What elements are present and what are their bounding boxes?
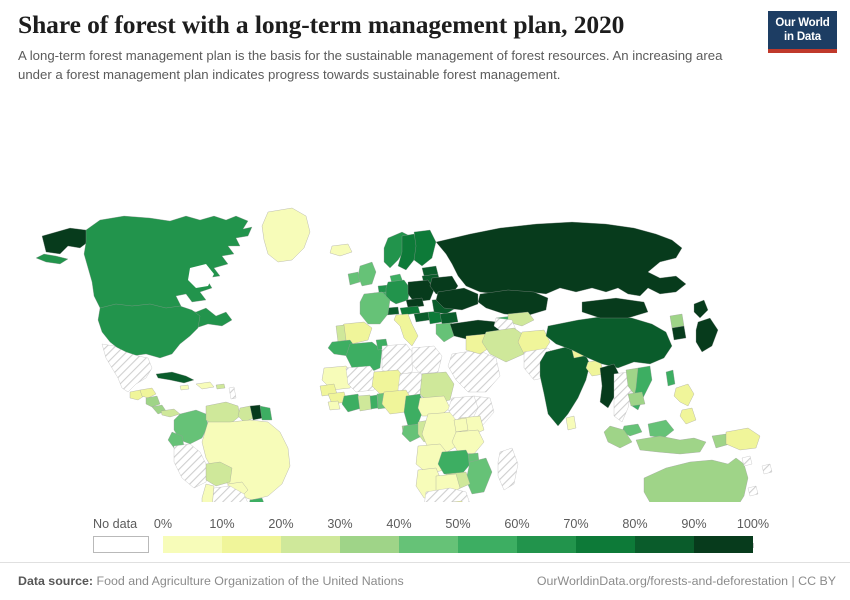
- country-united-kingdom[interactable]: [358, 262, 376, 286]
- country-puerto-rico[interactable]: [216, 384, 225, 389]
- legend-bin-4[interactable]: [399, 536, 458, 553]
- country-philippines[interactable]: [674, 384, 696, 424]
- legend-tick-2: 20%: [268, 517, 293, 531]
- data-source-value: Food and Agriculture Organization of the…: [97, 574, 404, 588]
- attribution-link[interactable]: OurWorldinData.org/forests-and-deforesta…: [537, 574, 836, 588]
- legend-no-data-swatch[interactable]: [93, 536, 149, 553]
- legend-bin-5[interactable]: [458, 536, 517, 553]
- legend-bin-8[interactable]: [635, 536, 694, 553]
- country-south-korea[interactable]: [672, 326, 686, 340]
- legend-tick-1: 10%: [209, 517, 234, 531]
- legend-tick-10: 100%: [737, 517, 769, 531]
- country-croatia[interactable]: [414, 312, 430, 322]
- country-japan[interactable]: [694, 300, 718, 352]
- legend-no-data-label: No data: [93, 517, 137, 531]
- data-source-note: Data source: Food and Agriculture Organi…: [18, 574, 404, 588]
- country-zambia[interactable]: [438, 450, 472, 474]
- legend-tick-0: 0%: [154, 517, 172, 531]
- country-india[interactable]: [540, 346, 590, 426]
- country-sierra-leone[interactable]: [328, 401, 340, 410]
- legend-bin-6[interactable]: [517, 536, 576, 553]
- map-svg[interactable]: [0, 96, 850, 502]
- map-legend[interactable]: No data 0%10%20%30%40%50%60%70%80%90%100…: [0, 506, 850, 554]
- country-malaysia[interactable]: [622, 420, 674, 438]
- legend-bin-7[interactable]: [576, 536, 635, 553]
- legend-tick-9: 90%: [681, 517, 706, 531]
- country-ireland[interactable]: [348, 272, 360, 285]
- legend-tickmark-10: [753, 543, 754, 548]
- country-north-korea[interactable]: [670, 314, 684, 328]
- legend-bin-0[interactable]: [163, 536, 222, 553]
- country-uganda[interactable]: [454, 418, 468, 432]
- country-aleutians[interactable]: [36, 254, 68, 264]
- data-source-label: Data source:: [18, 574, 93, 588]
- country-cuba[interactable]: [156, 372, 194, 383]
- legend-tick-4: 40%: [386, 517, 411, 531]
- logo-line-1: Our World: [772, 17, 833, 31]
- country-french-guiana[interactable]: [260, 406, 272, 420]
- chart-subtitle: A long-term forest management plan is th…: [18, 47, 734, 84]
- country-nicaragua[interactable]: [146, 396, 160, 407]
- legend-tick-8: 80%: [622, 517, 647, 531]
- country-papua-new-guinea[interactable]: [726, 428, 760, 450]
- legend-tick-5: 50%: [445, 517, 470, 531]
- country-australia[interactable]: [644, 458, 748, 502]
- country-france[interactable]: [360, 292, 390, 324]
- country-saudi-arabia[interactable]: [448, 350, 500, 392]
- page-title: Share of forest with a long-term managem…: [18, 10, 754, 39]
- country-ghana[interactable]: [358, 395, 372, 411]
- our-world-in-data-logo[interactable]: Our World in Data: [768, 11, 837, 53]
- country-italy[interactable]: [394, 314, 418, 346]
- country-hispaniola[interactable]: [196, 382, 214, 389]
- legend-bin-3[interactable]: [340, 536, 399, 553]
- country-egypt[interactable]: [412, 346, 442, 374]
- country-alaska[interactable]: [42, 228, 88, 254]
- world-choropleth-map[interactable]: [0, 96, 850, 502]
- owid-map-chart: Share of forest with a long-term managem…: [0, 0, 850, 600]
- country-madagascar[interactable]: [498, 448, 518, 490]
- chart-header: Share of forest with a long-term managem…: [18, 10, 754, 85]
- country-sri-lanka[interactable]: [566, 416, 576, 430]
- country-togo[interactable]: [370, 395, 378, 409]
- country-greenland[interactable]: [262, 208, 310, 262]
- country-iceland[interactable]: [330, 244, 352, 256]
- country-taiwan[interactable]: [666, 370, 675, 386]
- legend-color-bar[interactable]: [163, 536, 753, 553]
- country-tanzania[interactable]: [452, 430, 484, 454]
- legend-tick-3: 30%: [327, 517, 352, 531]
- country-mongolia[interactable]: [582, 298, 648, 318]
- country-bulgaria[interactable]: [440, 312, 458, 324]
- legend-bin-2[interactable]: [281, 536, 340, 553]
- legend-tick-labels: 0%10%20%30%40%50%60%70%80%90%100%: [163, 517, 753, 533]
- map-countries[interactable]: [36, 208, 772, 502]
- logo-line-2: in Data: [772, 31, 833, 45]
- legend-tick-7: 70%: [563, 517, 588, 531]
- chart-footer: Data source: Food and Agriculture Organi…: [0, 562, 850, 600]
- country-cambodia[interactable]: [628, 392, 645, 406]
- country-russia[interactable]: [436, 222, 686, 296]
- legend-bin-9[interactable]: [694, 536, 753, 553]
- country-kazakhstan[interactable]: [478, 290, 548, 316]
- country-portugal[interactable]: [336, 325, 346, 342]
- lesser-antilles[interactable]: [229, 387, 236, 399]
- country-jamaica[interactable]: [180, 385, 189, 390]
- legend-bin-1[interactable]: [222, 536, 281, 553]
- legend-tick-6: 60%: [504, 517, 529, 531]
- country-mozambique[interactable]: [466, 458, 492, 494]
- country-peru[interactable]: [174, 444, 208, 488]
- country-finland[interactable]: [414, 230, 436, 266]
